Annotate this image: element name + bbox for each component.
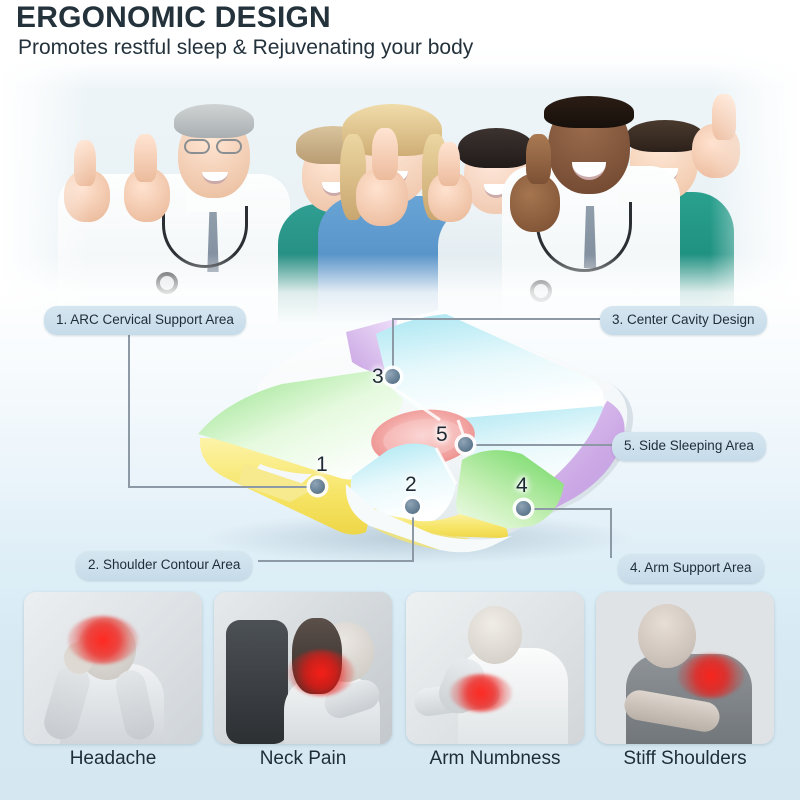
pain-caption-neck-pain: Neck Pain bbox=[214, 748, 392, 770]
pain-card-neck-pain[interactable] bbox=[214, 592, 392, 744]
marker-dot-1 bbox=[310, 479, 325, 494]
pain-caption-arm-numbness: Arm Numbness bbox=[406, 748, 584, 770]
page-subtitle: Promotes restful sleep & Rejuvenating yo… bbox=[18, 36, 473, 60]
callout-connector-3 bbox=[392, 318, 604, 376]
pain-card-stiff-shoulders[interactable] bbox=[596, 592, 774, 744]
pain-glow-arm bbox=[450, 674, 512, 712]
pain-glow-neck bbox=[288, 650, 354, 696]
pain-caption-stiff-shoulders: Stiff Shoulders bbox=[596, 748, 774, 770]
pain-card-headache[interactable] bbox=[24, 592, 202, 744]
callout-label-2[interactable]: 2. Shoulder Contour Area bbox=[76, 551, 252, 580]
marker-number-2: 2 bbox=[405, 473, 417, 497]
callout-label-5[interactable]: 5. Side Sleeping Area bbox=[612, 432, 766, 461]
page-title: ERGONOMIC DESIGN bbox=[16, 1, 331, 35]
callout-label-4[interactable]: 4. Arm Support Area bbox=[618, 554, 764, 583]
callout-connector-4 bbox=[530, 508, 612, 558]
doctors-hero-image bbox=[0, 44, 800, 324]
callout-label-3[interactable]: 3. Center Cavity Design bbox=[600, 306, 767, 335]
photo-headache bbox=[24, 592, 202, 744]
pain-glow-shoulder bbox=[678, 654, 744, 698]
photo-neck-pain bbox=[214, 592, 392, 744]
callout-connector-2 bbox=[258, 506, 414, 562]
marker-number-5: 5 bbox=[436, 423, 448, 447]
pain-caption-headache: Headache bbox=[24, 748, 202, 770]
photo-arm-numbness bbox=[406, 592, 584, 744]
photo-stiff-shoulders bbox=[596, 592, 774, 744]
callout-connector-5 bbox=[468, 444, 614, 446]
callout-connector-1 bbox=[128, 332, 318, 488]
marker-number-1: 1 bbox=[316, 453, 328, 477]
marker-dot-2 bbox=[405, 499, 420, 514]
marker-number-4: 4 bbox=[516, 474, 528, 498]
pain-glow-headache bbox=[68, 616, 138, 664]
marker-dot-3 bbox=[385, 369, 400, 384]
marker-dot-4 bbox=[516, 501, 531, 516]
marker-number-3: 3 bbox=[372, 365, 384, 389]
pain-card-arm-numbness[interactable] bbox=[406, 592, 584, 744]
thumbs-up-icon bbox=[134, 134, 157, 182]
infographic-page: ERGONOMIC DESIGN Promotes restful sleep … bbox=[0, 0, 800, 800]
marker-dot-5 bbox=[458, 437, 473, 452]
callout-label-1[interactable]: 1. ARC Cervical Support Area bbox=[44, 306, 246, 335]
pain-points-row: Headache Neck Pain Arm Numbness bbox=[0, 592, 800, 800]
